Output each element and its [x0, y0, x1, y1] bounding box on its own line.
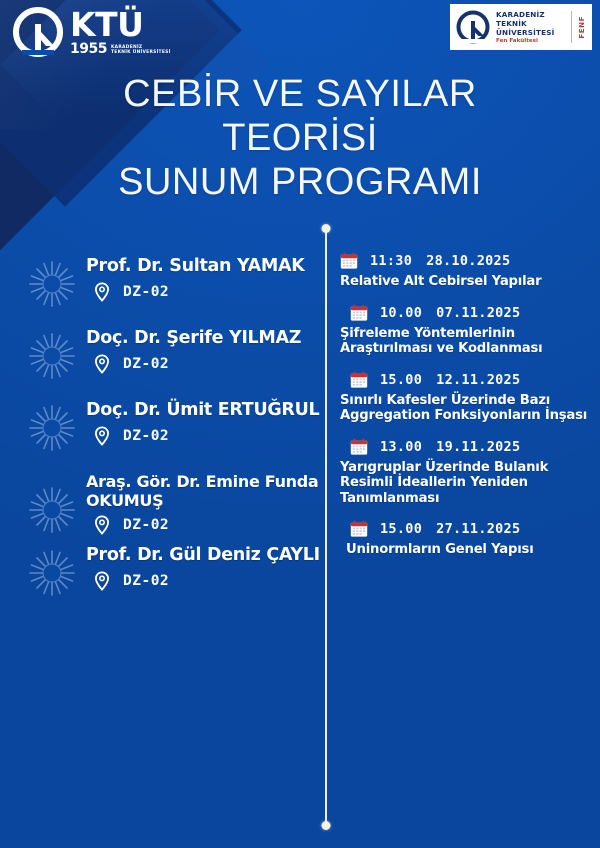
starburst-icon: [28, 332, 76, 380]
location-pin-icon: [94, 515, 110, 535]
calendar-icon: [340, 252, 358, 270]
list-item: 11:30 28.10.2025 Relative Alt Cebirsel Y…: [340, 252, 590, 290]
speaker-location: DZ-02: [86, 515, 320, 535]
event-date: 27.11.2025: [436, 521, 520, 537]
ktu-fullname-line2: TEKNİK ÜNİVERSİTESİ: [111, 50, 171, 55]
location-label: DZ-02: [123, 517, 169, 533]
list-item: Prof. Dr. Gül Deniz ÇAYLI DZ-02: [28, 545, 320, 607]
starburst-icon: [28, 404, 76, 452]
event-header: 10.00 07.11.2025: [340, 304, 590, 322]
ktu-fullname: KARADENİZ TEKNİK ÜNİVERSİTESİ: [111, 45, 171, 56]
timeline-start-dot: [322, 224, 331, 233]
ktu-emblem-icon: [456, 10, 490, 44]
ktu-emblem-icon: [12, 6, 64, 58]
list-item: 15.00 12.11.2025 Sınırlı Kafesler Üzerin…: [340, 371, 590, 424]
list-item: Doç. Dr. Ümit ERTUĞRUL DZ-02: [28, 400, 320, 462]
speaker-location: DZ-02: [86, 426, 320, 446]
list-item: 10.00 07.11.2025 Şifreleme Yöntemlerinin…: [340, 304, 590, 357]
list-item: Araş. Gör. Dr. Emine Funda OKUMUŞ DZ-02: [28, 472, 320, 535]
speaker-name: Doç. Dr. Ümit ERTUĞRUL: [86, 400, 320, 421]
timeline-axis: [325, 228, 327, 826]
page-title: CEBİR VE SAYILAR TEORİSİ SUNUM PROGRAMI: [0, 72, 600, 204]
calendar-icon: [350, 304, 368, 322]
timeline-end-dot: [322, 821, 331, 830]
poster-root: KTÜ 1955 KARADENİZ TEKNİK ÜNİVERSİTESİ: [0, 0, 600, 848]
location-label: DZ-02: [123, 284, 169, 300]
ktu-year: 1955: [70, 42, 107, 56]
title-line-1: CEBİR VE SAYILAR: [40, 72, 560, 116]
speaker-location: DZ-02: [86, 282, 320, 302]
list-item: 13.00 19.11.2025 Yarıgruplar Üzerinde Bu…: [340, 438, 590, 507]
calendar-icon: [350, 438, 368, 456]
speaker-location: DZ-02: [86, 354, 320, 374]
location-pin-icon: [94, 354, 110, 374]
location-pin-icon: [94, 282, 110, 302]
title-line-3: SUNUM PROGRAMI: [40, 160, 560, 204]
starburst-icon: [28, 549, 76, 597]
event-title: Uninormların Genel Yapısı: [340, 542, 590, 558]
ktu-letters: KTÜ: [70, 8, 171, 41]
event-header: 15.00 12.11.2025: [340, 371, 590, 389]
logo-divider: [571, 11, 572, 43]
title-line-2: TEORİSİ: [40, 116, 560, 160]
event-date: 07.11.2025: [436, 305, 520, 321]
event-title: Şifreleme Yöntemlerinin Araştırılması ve…: [340, 326, 590, 357]
fenf-line1: KARADENİZ: [496, 10, 565, 19]
event-time: 15.00: [380, 372, 422, 388]
event-date: 19.11.2025: [436, 439, 520, 455]
list-item: Doç. Dr. Şerife YILMAZ DZ-02: [28, 328, 320, 390]
location-label: DZ-02: [123, 428, 169, 444]
poster-header: KTÜ 1955 KARADENİZ TEKNİK ÜNİVERSİTESİ: [0, 0, 600, 62]
list-item: 15.00 27.11.2025 Uninormların Genel Yapı…: [340, 520, 590, 558]
speakers-list: Prof. Dr. Sultan YAMAK DZ-02: [28, 256, 320, 617]
event-title: Relative Alt Cebirsel Yapılar: [340, 274, 590, 290]
calendar-icon: [350, 520, 368, 538]
speaker-location: DZ-02: [86, 571, 320, 591]
fenf-vertical-label: FENF: [578, 16, 586, 39]
event-time: 13.00: [380, 439, 422, 455]
speaker-name: Doç. Dr. Şerife YILMAZ: [86, 328, 320, 349]
event-header: 15.00 27.11.2025: [340, 520, 590, 538]
event-date: 12.11.2025: [436, 372, 520, 388]
fenf-line3: Fen Fakültesi: [496, 37, 565, 45]
list-item: Prof. Dr. Sultan YAMAK DZ-02: [28, 256, 320, 318]
location-pin-icon: [94, 426, 110, 446]
speaker-name: Prof. Dr. Sultan YAMAK: [86, 256, 320, 277]
fen-fakultesi-text: KARADENİZ TEKNİK ÜNİVERSİTESİ Fen Fakült…: [496, 10, 565, 45]
event-title: Sınırlı Kafesler Üzerinde Bazı Aggregati…: [340, 393, 590, 424]
event-time: 10.00: [380, 305, 422, 321]
fenf-line2: TEKNİK ÜNİVERSİTESİ: [496, 19, 565, 37]
location-label: DZ-02: [123, 573, 169, 589]
starburst-icon: [28, 260, 76, 308]
event-time: 11:30: [370, 253, 412, 269]
location-pin-icon: [94, 571, 110, 591]
event-date: 28.10.2025: [426, 253, 510, 269]
events-list: 11:30 28.10.2025 Relative Alt Cebirsel Y…: [340, 252, 590, 572]
location-label: DZ-02: [123, 356, 169, 372]
speaker-name: Araş. Gör. Dr. Emine Funda OKUMUŞ: [86, 472, 320, 510]
event-header: 13.00 19.11.2025: [340, 438, 590, 456]
event-title: Yarıgruplar Üzerinde Bulanık Resimli İde…: [340, 460, 590, 507]
ktu-logo: KTÜ 1955 KARADENİZ TEKNİK ÜNİVERSİTESİ: [12, 6, 171, 58]
starburst-icon: [28, 486, 76, 534]
ktu-wordmark: KTÜ 1955 KARADENİZ TEKNİK ÜNİVERSİTESİ: [70, 8, 171, 56]
calendar-icon: [350, 371, 368, 389]
event-header: 11:30 28.10.2025: [340, 252, 590, 270]
fen-fakultesi-logo: KARADENİZ TEKNİK ÜNİVERSİTESİ Fen Fakült…: [450, 4, 592, 50]
event-time: 15.00: [380, 521, 422, 537]
speaker-name: Prof. Dr. Gül Deniz ÇAYLI: [86, 545, 320, 566]
ktu-subtext: 1955 KARADENİZ TEKNİK ÜNİVERSİTESİ: [70, 42, 171, 56]
